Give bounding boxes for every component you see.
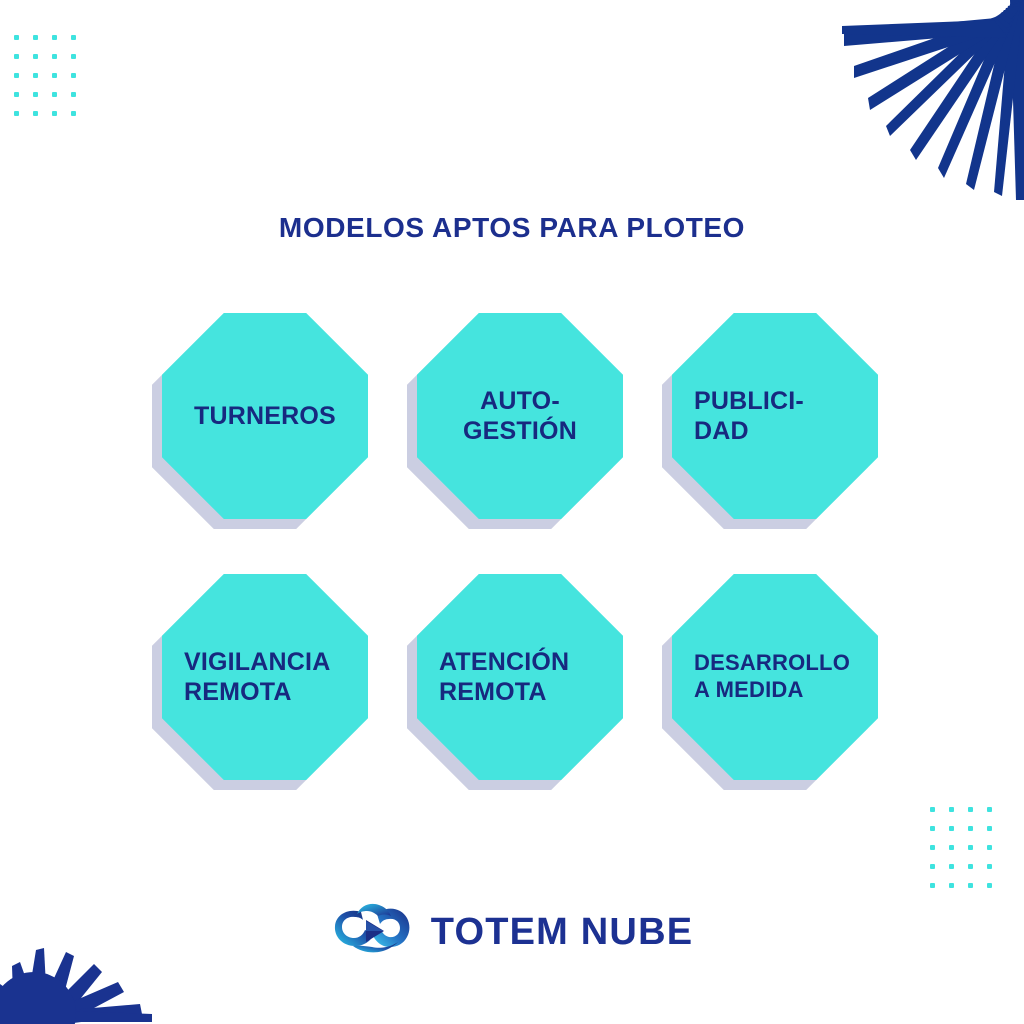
page-title: MODELOS APTOS PARA PLOTEO [0,212,1024,244]
dot [949,845,954,850]
dot [14,111,19,116]
octagon-face: PUBLICI- DAD [672,313,878,519]
dot [968,807,973,812]
octagon-card-vigilancia-remota[interactable]: VIGILANCIA REMOTA [152,574,368,790]
dot [930,845,935,850]
dot [14,73,19,78]
footer-logo: TOTEM NUBE [0,902,1024,962]
dot [987,826,992,831]
dot [930,807,935,812]
dot [71,111,76,116]
dot [33,54,38,59]
octagon-label: AUTO- GESTIÓN [417,386,623,447]
dot [71,54,76,59]
dot [33,73,38,78]
dot [52,54,57,59]
dot [71,92,76,97]
octagon-card-desarrollo-a-medida[interactable]: DESARROLLO A MEDIDA [662,574,878,790]
dot [968,826,973,831]
dot [52,92,57,97]
octagon-card-publicidad[interactable]: PUBLICI- DAD [662,313,878,529]
octagon-face: VIGILANCIA REMOTA [162,574,368,780]
dot-grid-top-left [14,35,76,116]
octagon-card-grid: TURNEROS AUTO- GESTIÓN PUBLICI- DAD VIGI… [152,313,878,790]
dot [33,35,38,40]
dot [52,111,57,116]
octagon-label: ATENCIÓN REMOTA [417,647,623,708]
dot [987,845,992,850]
dot [968,864,973,869]
dot [14,35,19,40]
dot-grid-bottom-right [930,807,992,888]
dot [52,73,57,78]
brand-name: TOTEM NUBE [431,911,694,954]
octagon-label: VIGILANCIA REMOTA [162,647,368,708]
dot [71,35,76,40]
dot [52,35,57,40]
cloud-infinity-play-icon [331,902,417,962]
dot [33,111,38,116]
dot [949,864,954,869]
dot [930,883,935,888]
octagon-card-autogestion[interactable]: AUTO- GESTIÓN [407,313,623,529]
dot [14,54,19,59]
dot [987,864,992,869]
octagon-label: TURNEROS [162,401,368,432]
octagon-face: DESARROLLO A MEDIDA [672,574,878,780]
sunburst-icon-top-right [814,0,1024,200]
dot [930,826,935,831]
dot [968,883,973,888]
octagon-label: PUBLICI- DAD [672,386,878,447]
poster-canvas: MODELOS APTOS PARA PLOTEO TURNEROS AUTO-… [0,0,1024,1024]
dot [949,807,954,812]
dot [14,92,19,97]
dot [949,883,954,888]
octagon-label: DESARROLLO A MEDIDA [672,650,878,704]
dot [71,73,76,78]
dot [987,883,992,888]
dot [33,92,38,97]
octagon-card-turneros[interactable]: TURNEROS [152,313,368,529]
dot [968,845,973,850]
dot [949,826,954,831]
dot [930,864,935,869]
dot [987,807,992,812]
octagon-card-atencion-remota[interactable]: ATENCIÓN REMOTA [407,574,623,790]
octagon-face: ATENCIÓN REMOTA [417,574,623,780]
